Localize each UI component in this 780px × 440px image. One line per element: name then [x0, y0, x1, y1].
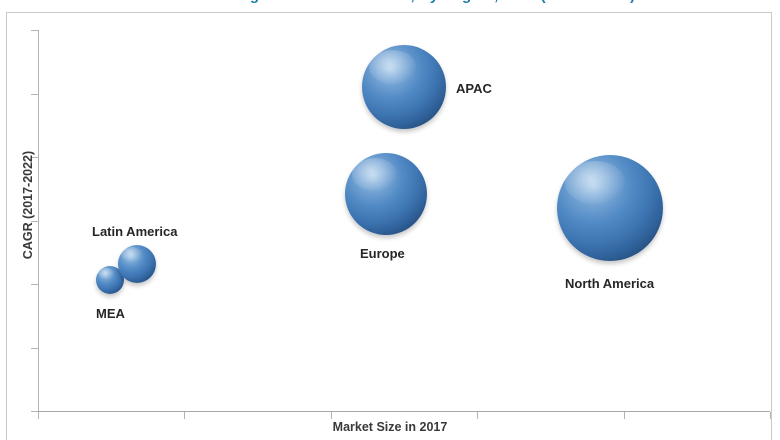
x-axis-tick [477, 412, 478, 419]
bubble-label-apac: APAC [456, 81, 492, 96]
bubble-apac[interactable] [362, 45, 446, 129]
y-axis-title: CAGR (2017-2022) [21, 115, 35, 295]
x-axis-tick [38, 412, 39, 419]
x-axis-tick [331, 412, 332, 419]
bubble-label-europe: Europe [360, 246, 405, 261]
y-axis-tick [31, 94, 38, 95]
y-axis-tick [31, 348, 38, 349]
bubble-label-latin-america: Latin America [92, 224, 178, 239]
chart-title: Artificial Intelligence in Retail Market… [0, 0, 780, 6]
bubble-europe[interactable] [345, 153, 427, 235]
plot-area: MEALatin AmericaEuropeAPACNorth America [38, 30, 770, 412]
bubble-label-north-america: North America [565, 276, 654, 291]
y-axis-tick [31, 411, 38, 412]
bubble-label-mea: MEA [96, 306, 125, 321]
x-axis-title: Market Size in 2017 [0, 420, 780, 434]
y-axis-tick [31, 30, 38, 31]
bubble-latin-america[interactable] [118, 245, 156, 283]
x-axis-tick [770, 412, 771, 419]
bubble-chart: Artificial Intelligence in Retail Market… [0, 0, 780, 440]
x-axis-tick [624, 412, 625, 419]
bubble-north-america[interactable] [557, 155, 663, 261]
x-axis-tick [184, 412, 185, 419]
